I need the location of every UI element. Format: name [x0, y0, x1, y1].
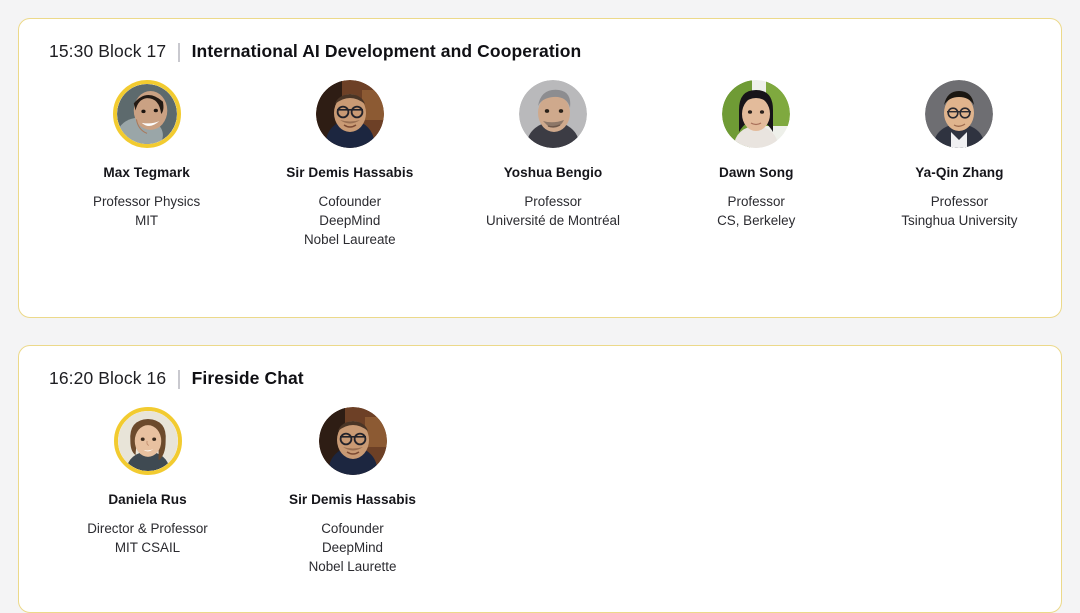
role-line: DeepMind — [304, 211, 396, 230]
speaker-card[interactable]: Sir Demis Hassabis Cofounder DeepMind No… — [248, 80, 451, 249]
speaker-card[interactable]: Max Tegmark Professor Physics MIT — [45, 80, 248, 249]
avatar-ring — [925, 80, 993, 148]
avatar — [519, 80, 587, 148]
speaker-role: Cofounder DeepMind Nobel Laurette — [309, 519, 397, 576]
speaker-name: Sir Demis Hassabis — [289, 492, 416, 508]
session-card[interactable]: 15:30 Block 17 International AI Developm… — [18, 18, 1062, 318]
header-divider-icon — [178, 370, 179, 389]
session-header: 16:20 Block 16 Fireside Chat — [19, 346, 1061, 389]
speaker-role: Professor Tsinghua University — [901, 192, 1017, 230]
speaker-card[interactable]: Ya-Qin Zhang Professor Tsinghua Universi… — [858, 80, 1061, 249]
speaker-name: Ya-Qin Zhang — [915, 165, 1003, 181]
role-line: MIT — [93, 211, 200, 230]
speaker-name: Yoshua Bengio — [504, 165, 603, 181]
avatar-ring — [319, 407, 387, 475]
avatar-ring — [113, 80, 181, 148]
role-line: Director & Professor — [87, 519, 208, 538]
role-line: CS, Berkeley — [717, 211, 795, 230]
speaker-role: Professor Université de Montréal — [486, 192, 620, 230]
speaker-card[interactable]: Sir Demis Hassabis Cofounder DeepMind No… — [250, 407, 455, 576]
avatar — [925, 80, 993, 148]
speaker-role: Cofounder DeepMind Nobel Laureate — [304, 192, 396, 249]
session-card[interactable]: 16:20 Block 16 Fireside Chat — [18, 345, 1062, 613]
speaker-name: Daniela Rus — [108, 492, 186, 508]
speaker-card[interactable]: Dawn Song Professor CS, Berkeley — [655, 80, 858, 249]
avatar — [316, 80, 384, 148]
speaker-role: Director & Professor MIT CSAIL — [87, 519, 208, 557]
avatar — [117, 84, 177, 144]
avatar-ring — [722, 80, 790, 148]
role-line: Nobel Laurette — [309, 557, 397, 576]
session-time: 16:20 Block 16 — [49, 368, 166, 389]
agenda-page: 15:30 Block 17 International AI Developm… — [0, 0, 1080, 613]
speaker-list: Daniela Rus Director & Professor MIT CSA… — [45, 389, 1061, 576]
session-title: International AI Development and Coopera… — [192, 41, 582, 62]
session-header: 15:30 Block 17 International AI Developm… — [19, 19, 1061, 62]
speaker-name: Max Tegmark — [103, 165, 189, 181]
role-line: Professor — [901, 192, 1017, 211]
header-divider-icon — [178, 43, 179, 62]
speaker-list: Max Tegmark Professor Physics MIT — [45, 62, 1061, 249]
role-line: Cofounder — [309, 519, 397, 538]
role-line: Professor — [717, 192, 795, 211]
speaker-name: Sir Demis Hassabis — [286, 165, 413, 181]
avatar-ring — [519, 80, 587, 148]
role-line: Tsinghua University — [901, 211, 1017, 230]
role-line: Nobel Laureate — [304, 230, 396, 249]
session-title: Fireside Chat — [192, 368, 304, 389]
avatar-ring — [316, 80, 384, 148]
avatar-ring — [114, 407, 182, 475]
speaker-role: Professor Physics MIT — [93, 192, 200, 230]
session-time: 15:30 Block 17 — [49, 41, 166, 62]
speaker-role: Professor CS, Berkeley — [717, 192, 795, 230]
role-line: MIT CSAIL — [87, 538, 208, 557]
avatar — [319, 407, 387, 475]
speaker-card[interactable]: Yoshua Bengio Professor Université de Mo… — [451, 80, 654, 249]
role-line: Cofounder — [304, 192, 396, 211]
avatar — [722, 80, 790, 148]
avatar — [118, 411, 178, 471]
role-line: Université de Montréal — [486, 211, 620, 230]
speaker-card[interactable]: Daniela Rus Director & Professor MIT CSA… — [45, 407, 250, 576]
role-line: Professor — [486, 192, 620, 211]
speaker-name: Dawn Song — [719, 165, 793, 181]
role-line: Professor Physics — [93, 192, 200, 211]
role-line: DeepMind — [309, 538, 397, 557]
